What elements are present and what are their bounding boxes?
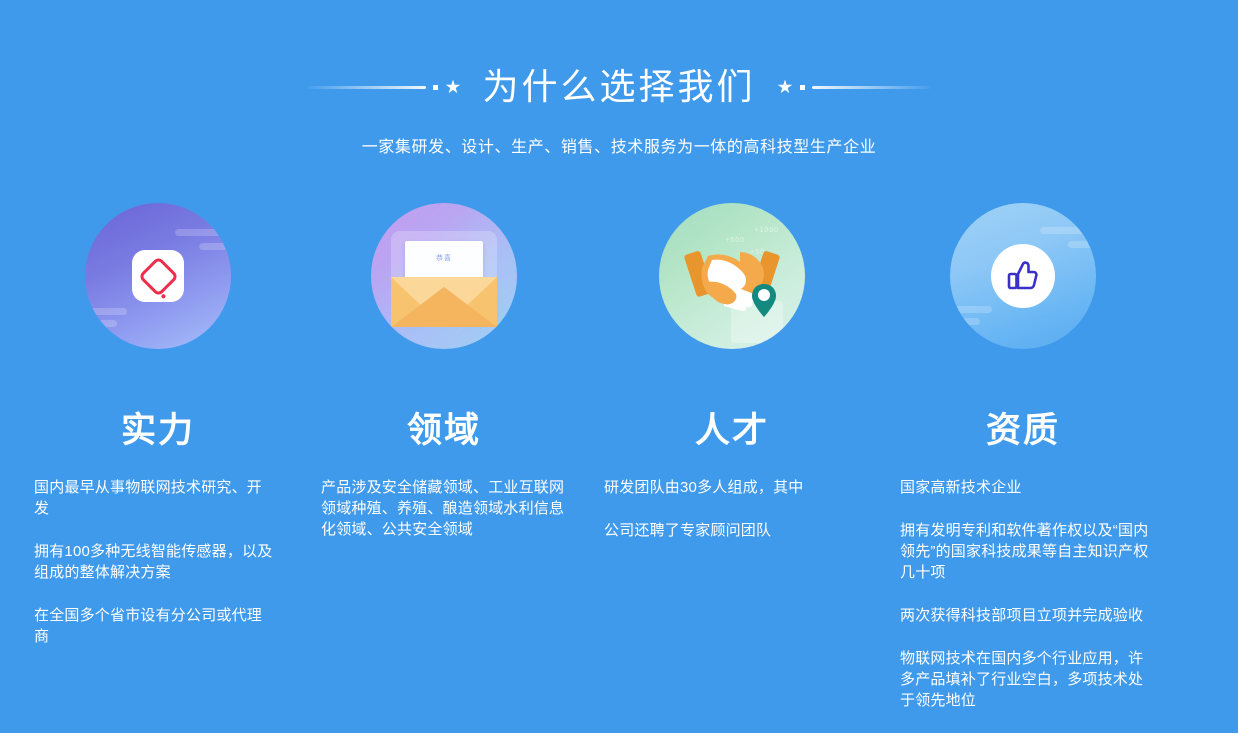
icon-wrap-qualification — [886, 203, 1160, 379]
column-body-qualification: 国家高新技术企业 拥有发明专利和软件著作权以及“国内领先”的国家科技成果等自主知… — [886, 448, 1160, 711]
feature-point: 国内最早从事物联网技术研究、开发 — [34, 477, 276, 519]
dot-right-icon — [800, 85, 805, 90]
thumb-circle — [991, 244, 1055, 308]
feature-point: 研发团队由30多人组成，其中 — [604, 477, 856, 498]
feature-point: 拥有100多种无线智能传感器，以及组成的整体解决方案 — [34, 541, 276, 583]
page-subtitle: 一家集研发、设计、生产、销售、技术服务为一体的高科技型生产企业 — [0, 140, 1238, 156]
title-row: 为什么选择我们 — [0, 56, 1238, 118]
envelope-letter-icon: 恭喜 — [371, 203, 517, 349]
feature-columns: 实力 国内最早从事物联网技术研究、开发 拥有100多种无线智能传感器，以及组成的… — [0, 203, 1238, 733]
handshake-icon: +1000 +500 +50 — [659, 203, 805, 349]
column-title-strength: 实力 — [26, 379, 290, 448]
column-title-talent: 人才 — [594, 379, 870, 448]
icon-wrap-strength — [26, 203, 290, 379]
feature-point: 在全国多个省市设有分公司或代理商 — [34, 605, 276, 647]
diamond-badge-icon — [85, 203, 231, 349]
letter-seal-text: 恭喜 — [429, 254, 459, 263]
diamond-tile — [132, 250, 184, 302]
handshake-graphic — [678, 222, 786, 330]
thumb-glyph-icon — [1005, 258, 1041, 294]
divider-left — [308, 86, 426, 89]
feature-column-qualification: 资质 国家高新技术企业 拥有发明专利和软件著作权以及“国内领先”的国家科技成果等… — [870, 203, 1160, 733]
why-choose-us-section: 为什么选择我们 一家集研发、设计、生产、销售、技术服务为一体的高科技型生产企业 — [0, 0, 1238, 698]
feature-point: 国家高新技术企业 — [900, 477, 1154, 498]
feature-column-field: 恭喜 领域 产品涉及安全储藏领域、工业互联网领域种殖、养殖、酿造领域水利信息化领… — [290, 203, 580, 733]
diamond-shape-icon — [137, 255, 178, 296]
feature-column-strength: 实力 国内最早从事物联网技术研究、开发 拥有100多种无线智能传感器，以及组成的… — [0, 203, 290, 733]
icon-wrap-talent: +1000 +500 +50 — [594, 203, 870, 379]
icon-wrap-field: 恭喜 — [308, 203, 580, 379]
column-body-field: 产品涉及安全储藏领域、工业互联网领域种殖、养殖、酿造领域水利信息化领域、公共安全… — [308, 448, 580, 540]
envelope-graphic: 恭喜 — [383, 215, 505, 337]
page-title: 为什么选择我们 — [482, 69, 755, 105]
dot-left-icon — [433, 85, 438, 90]
column-body-strength: 国内最早从事物联网技术研究、开发 拥有100多种无线智能传感器，以及组成的整体解… — [26, 448, 290, 647]
thumbs-up-icon — [950, 203, 1096, 349]
envelope-front-flap — [391, 287, 497, 327]
column-title-field: 领域 — [308, 379, 580, 448]
feature-point: 物联网技术在国内多个行业应用，许多产品填补了行业空白，多项技术处于领先地位 — [900, 648, 1154, 711]
star-right-icon — [778, 80, 793, 95]
feature-point: 公司还聘了专家顾问团队 — [604, 520, 856, 541]
star-left-icon — [445, 80, 460, 95]
section-header: 为什么选择我们 一家集研发、设计、生产、销售、技术服务为一体的高科技型生产企业 — [0, 56, 1238, 156]
feature-point: 两次获得科技部项目立项并完成验收 — [900, 605, 1154, 626]
feature-point: 拥有发明专利和软件著作权以及“国内领先”的国家科技成果等自主知识产权几十项 — [900, 520, 1154, 583]
divider-right — [812, 86, 930, 89]
feature-column-talent: +1000 +500 +50 — [580, 203, 870, 733]
column-body-talent: 研发团队由30多人组成，其中 公司还聘了专家顾问团队 — [594, 448, 870, 541]
feature-point: 产品涉及安全储藏领域、工业互联网领域种殖、养殖、酿造领域水利信息化领域、公共安全… — [321, 477, 574, 540]
column-title-qualification: 资质 — [886, 379, 1160, 448]
